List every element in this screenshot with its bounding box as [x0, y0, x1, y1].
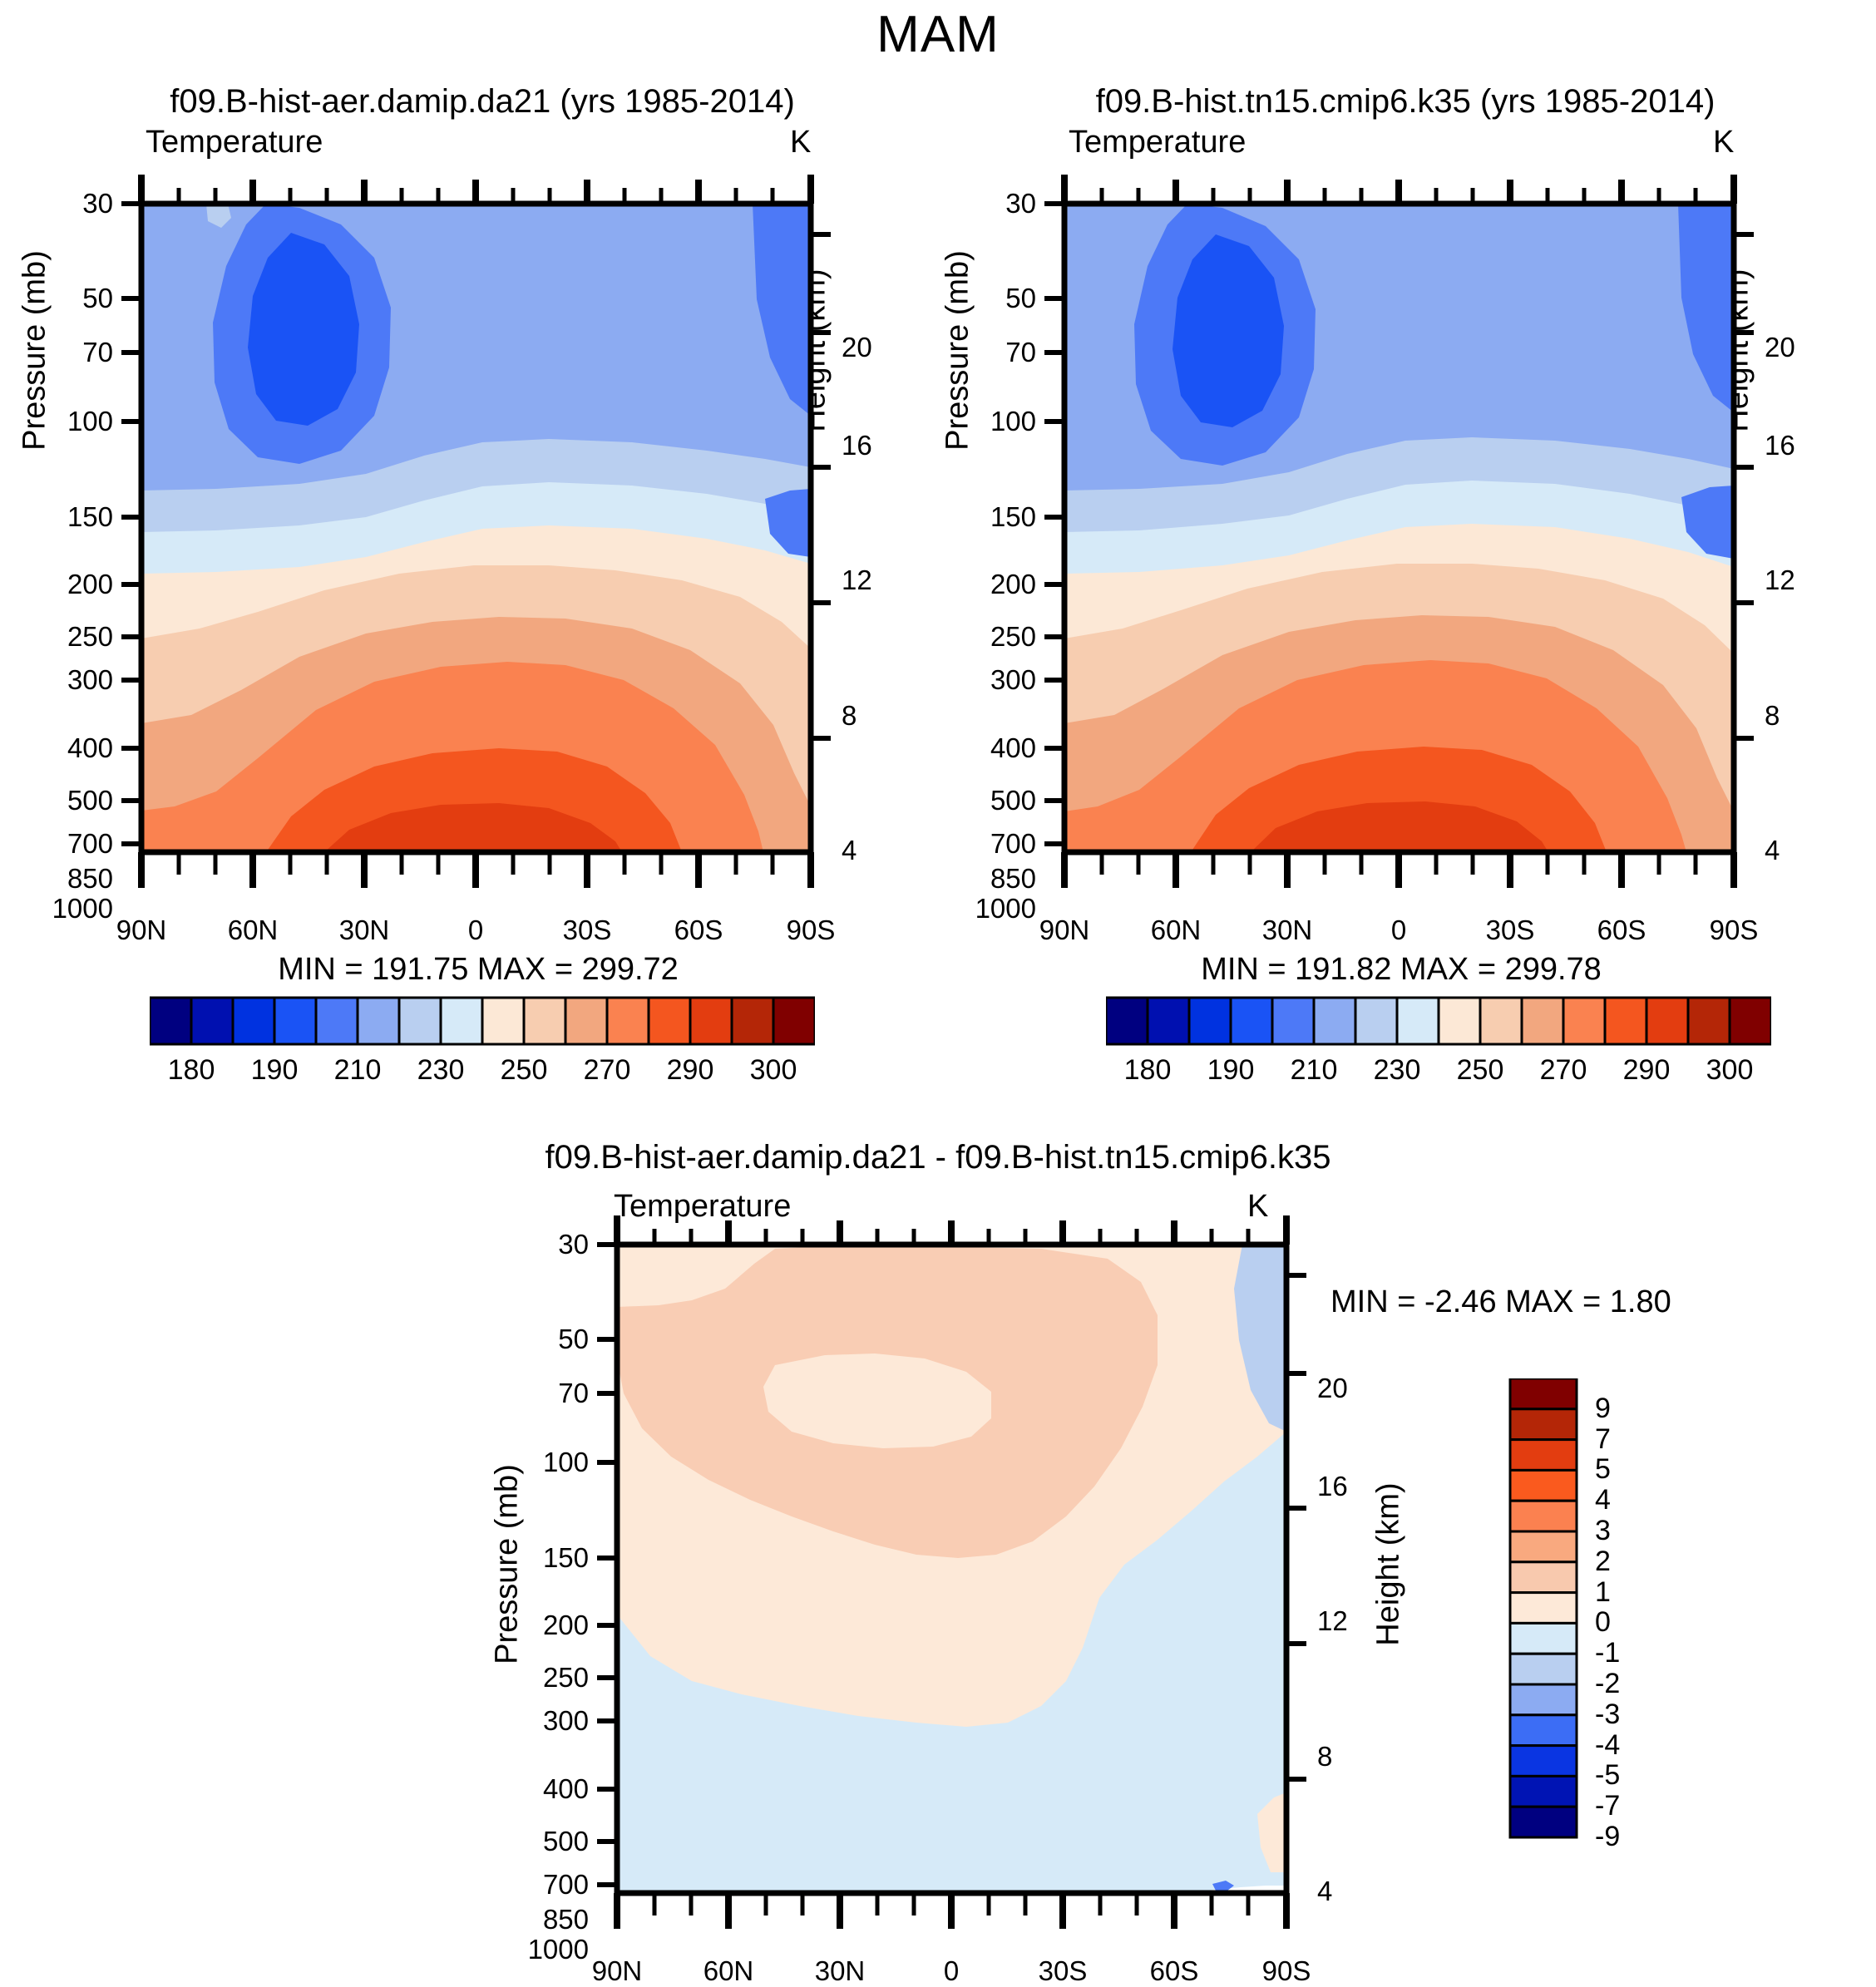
panel-right-ytick-400: 400 [953, 732, 1036, 764]
panel-left-colorbar-swatch [399, 998, 441, 1044]
panel-diff-colorbar-labels: 97543210-1-2-3-4-5-7-9 [1587, 1378, 1686, 1844]
panel-right-ytick-200: 200 [953, 569, 1036, 600]
panel-right-colorbar-tick-label: 290 [1605, 1054, 1688, 1087]
panel-right-ytick-300: 300 [953, 664, 1036, 696]
panel-right-colorbar-swatch [1189, 998, 1231, 1044]
panel-diff-y2tick-8: 8 [1317, 1741, 1332, 1773]
panel-right-colorbar-swatch [1355, 998, 1397, 1044]
panel-left-colorbar-tick-label: 250 [482, 1054, 565, 1087]
panel-left-title: f09.B-hist-aer.damip.da21 (yrs 1985-2014… [50, 83, 915, 121]
panel-diff-y2tick-4: 4 [1317, 1876, 1332, 1907]
panel-left-y2tick-8: 8 [842, 700, 857, 732]
panel-left-colorbar-swatch [274, 998, 316, 1044]
panel-left-colorbar-tick-label: 290 [649, 1054, 732, 1087]
panel-diff-colorbar-tick-label: -7 [1595, 1790, 1620, 1822]
panel-diff-colorbar-swatch [1510, 1807, 1577, 1837]
panel-left-colorbar-tick-label: 300 [732, 1054, 815, 1087]
panel-left-colorbar-tick-label: 210 [316, 1054, 399, 1087]
panel-right-y2tick-8: 8 [1765, 700, 1780, 732]
panel-diff-xtick-30N: 30N [790, 1955, 890, 1987]
panel-left-ytick-700: 700 [30, 828, 113, 860]
panel-left-colorbar-tick-label: 270 [565, 1054, 649, 1087]
panel-diff-y-ticks [597, 1245, 617, 1885]
panel-left-colorbar-swatch [773, 998, 815, 1044]
panel-right-ytick-850: 850 [953, 863, 1036, 895]
panel-left-ytick-200: 200 [30, 569, 113, 600]
panel-right-ytick-100: 100 [953, 406, 1036, 437]
panel-right-colorbar-swatch [1522, 998, 1563, 1044]
panel-left-colorbar-swatch [150, 998, 191, 1044]
panel-left-y2tick-16: 16 [842, 430, 872, 461]
panel-diff-colorbar-tick-label: 7 [1595, 1423, 1611, 1456]
panel-right-colorbar-swatch [1106, 998, 1148, 1044]
panel-diff-xtick-60S: 60S [1124, 1955, 1224, 1987]
panel-left-contours [141, 204, 811, 852]
panel-left-plot [50, 141, 931, 923]
panel-diff-colorbar-swatch [1510, 1654, 1577, 1684]
panel-left-y-ticks [121, 204, 141, 844]
panel-left-colorbar-swatch [690, 998, 732, 1044]
panel-diff-colorbar-tick-label: 1 [1595, 1576, 1611, 1609]
panel-right-colorbar-swatch [1563, 998, 1605, 1044]
panel-diff-colorbar-swatch [1510, 1531, 1577, 1562]
panel-right-xtick-30S: 30S [1460, 915, 1560, 946]
panel-left-colorbar-tick-label: 180 [150, 1054, 233, 1087]
panel-diff-colorbar-tick-label: 5 [1595, 1453, 1611, 1486]
panel-diff-ytick-300: 300 [506, 1705, 589, 1737]
panel-left-y2-ticks [811, 234, 831, 738]
panel-diff-ytick-200: 200 [506, 1610, 589, 1641]
panel-diff-colorbar-tick-label: -1 [1595, 1637, 1620, 1669]
panel-right-colorbar-tick-label: 190 [1189, 1054, 1272, 1087]
panel-diff-colorbar-swatch [1510, 1593, 1577, 1624]
panel-diff-colorbar-tick-label: -4 [1595, 1729, 1620, 1762]
panel-diff-ytick-400: 400 [506, 1773, 589, 1805]
panel-right-y2tick-12: 12 [1765, 565, 1795, 596]
panel-diff-colorbar-swatch [1510, 1501, 1577, 1531]
panel-right-xtick-60N: 60N [1126, 915, 1226, 946]
panel-right-y2tick-20: 20 [1765, 332, 1795, 363]
panel-right-ytick-70: 70 [970, 337, 1036, 368]
panel-left-colorbar-tick-label: 190 [233, 1054, 316, 1087]
panel-diff-y2-ticks [1286, 1275, 1306, 1779]
panel-diff-minmax: MIN = -2.46 MAX = 1.80 [1330, 1284, 1671, 1320]
panel-diff-xtick-30S: 30S [1013, 1955, 1113, 1987]
panel-right-colorbar [1106, 996, 1771, 1046]
panel-diff-colorbar-tick-label: 2 [1595, 1546, 1611, 1578]
panel-right-colorbar-swatch [1480, 998, 1522, 1044]
panel-diff-colorbar-swatch [1510, 1470, 1577, 1501]
panel-right-ytick-30: 30 [970, 188, 1036, 219]
panel-left-ytick-150: 150 [30, 501, 113, 533]
panel-right-colorbar-tick-label: 270 [1522, 1054, 1605, 1087]
panel-diff-ytick-150: 150 [506, 1542, 589, 1574]
panel-right-colorbar-labels: 180190210230250270290300 [1106, 1054, 1771, 1094]
panel-left-colorbar [150, 996, 815, 1046]
panel-diff-contours [617, 1245, 1286, 1893]
panel-diff-colorbar-swatch [1510, 1440, 1577, 1471]
panel-diff-y2tick-20: 20 [1317, 1373, 1348, 1404]
panel-right-ytick-50: 50 [970, 283, 1036, 314]
panel-left-colorbar-tick-label: 230 [399, 1054, 482, 1087]
panel-diff-ytick-700: 700 [506, 1869, 589, 1901]
panel-right-colorbar-swatch [1605, 998, 1646, 1044]
panel-right-y2-ticks [1734, 234, 1754, 738]
panel-left-ytick-250: 250 [30, 621, 113, 653]
panel-left-colorbar-swatch [191, 998, 233, 1044]
panel-diff-ytick-30: 30 [522, 1229, 589, 1260]
panel-diff-ytick-50: 50 [522, 1324, 589, 1355]
panel-diff-colorbar-tick-label: 4 [1595, 1484, 1611, 1516]
panel-left-colorbar-swatch [607, 998, 649, 1044]
panel-left-minmax: MIN = 191.75 MAX = 299.72 [141, 952, 815, 988]
panel-left-y2tick-12: 12 [842, 565, 872, 596]
panel-diff-plot [526, 1182, 1407, 1964]
panel-diff-ytick-70: 70 [522, 1378, 589, 1409]
panel-right-ytick-150: 150 [953, 501, 1036, 533]
panel-diff-title: f09.B-hist-aer.damip.da21 - f09.B-hist.t… [273, 1139, 1603, 1176]
panel-diff-colorbar-tick-label: -2 [1595, 1668, 1620, 1700]
panel-right-plot [973, 141, 1854, 923]
panel-diff-colorbar-swatch [1510, 1715, 1577, 1746]
panel-right-colorbar-swatch [1231, 998, 1272, 1044]
panel-right-colorbar-tick-label: 180 [1106, 1054, 1189, 1087]
panel-right-colorbar-tick-label: 230 [1355, 1054, 1439, 1087]
panel-left-ytick-50: 50 [47, 283, 113, 314]
panel-left-xtick-90N: 90N [91, 915, 191, 946]
panel-right-xtick-60S: 60S [1572, 915, 1671, 946]
panel-diff-xtick-90N: 90N [567, 1955, 667, 1987]
panel-right-colorbar-swatch [1439, 998, 1480, 1044]
panel-right-ytick-500: 500 [953, 785, 1036, 816]
panel-right-contours [1064, 204, 1734, 852]
panel-left-xtick-30S: 30S [537, 915, 637, 946]
panel-left-xtick-0: 0 [426, 915, 526, 946]
panel-right-ytick-700: 700 [953, 828, 1036, 860]
panel-left-xtick-90S: 90S [761, 915, 861, 946]
panel-left-ytick-500: 500 [30, 785, 113, 816]
panel-diff-colorbar-swatch [1510, 1776, 1577, 1807]
panel-right-xtick-30N: 30N [1237, 915, 1337, 946]
panel-right-xtick-90S: 90S [1684, 915, 1784, 946]
panel-left-xtick-60S: 60S [649, 915, 748, 946]
panel-left-colorbar-swatch [233, 998, 274, 1044]
panel-left-colorbar-swatch [358, 998, 399, 1044]
panel-left-ytick-300: 300 [30, 664, 113, 696]
panel-left-ytick-850: 850 [30, 863, 113, 895]
panel-left-x-ticks-top [141, 175, 811, 204]
panel-diff-colorbar-tick-label: -3 [1595, 1699, 1620, 1731]
panel-diff-ytick-850: 850 [506, 1904, 589, 1935]
panel-left-colorbar-swatch [441, 998, 482, 1044]
panel-left-colorbar-labels: 180190210230250270290300 [150, 1054, 815, 1094]
panel-left-xtick-30N: 30N [314, 915, 414, 946]
panel-right-colorbar-swatch [1688, 998, 1730, 1044]
panel-right-xtick-90N: 90N [1015, 915, 1114, 946]
panel-left-ytick-100: 100 [30, 406, 113, 437]
panel-diff-colorbar [1507, 1378, 1582, 1844]
panel-diff-colorbar-swatch [1510, 1562, 1577, 1593]
panel-diff-ytick-500: 500 [506, 1826, 589, 1857]
panel-right-ytick-250: 250 [953, 621, 1036, 653]
panel-left-ytick-400: 400 [30, 732, 113, 764]
panel-diff-y2tick-16: 16 [1317, 1471, 1348, 1502]
panel-diff-colorbar-tick-label: 9 [1595, 1393, 1611, 1425]
panel-left-colorbar-swatch [732, 998, 773, 1044]
panel-right-colorbar-swatch [1646, 998, 1688, 1044]
panel-left-colorbar-swatch [524, 998, 565, 1044]
panel-right-y-ticks [1044, 204, 1064, 844]
panel-right-xtick-0: 0 [1349, 915, 1449, 946]
panel-right-y2tick-4: 4 [1765, 835, 1780, 866]
panel-diff-colorbar-tick-label: -5 [1595, 1759, 1620, 1792]
panel-diff-x-ticks [617, 1893, 1286, 1929]
panel-left-ytick-70: 70 [47, 337, 113, 368]
panel-diff-ytick-250: 250 [506, 1662, 589, 1694]
panel-diff-xtick-0: 0 [901, 1955, 1001, 1987]
panel-diff-colorbar-tick-label: 3 [1595, 1515, 1611, 1547]
panel-right-minmax: MIN = 191.82 MAX = 299.78 [1064, 952, 1738, 988]
panel-right-colorbar-swatch [1272, 998, 1314, 1044]
panel-diff-x-ticks-top [617, 1215, 1286, 1245]
panel-right-colorbar-swatch [1148, 998, 1189, 1044]
panel-diff-xtick-90S: 90S [1237, 1955, 1336, 1987]
panel-right-y2tick-16: 16 [1765, 430, 1795, 461]
panel-right-x-ticks [1064, 852, 1734, 888]
panel-right-title: f09.B-hist.tn15.cmip6.k35 (yrs 1985-2014… [973, 83, 1838, 121]
panel-diff-colorbar-swatch [1510, 1684, 1577, 1715]
panel-left-xtick-60N: 60N [203, 915, 303, 946]
panel-diff-colorbar-swatch [1510, 1623, 1577, 1654]
panel-diff-xtick-60N: 60N [679, 1955, 778, 1987]
panel-right-colorbar-swatch [1397, 998, 1439, 1044]
panel-left-colorbar-swatch [565, 998, 607, 1044]
figure-title: MAM [0, 5, 1876, 64]
panel-right-colorbar-tick-label: 210 [1272, 1054, 1355, 1087]
panel-right-x-ticks-top [1064, 175, 1734, 204]
panel-diff-colorbar-tick-label: -9 [1595, 1821, 1620, 1853]
panel-left-ytick-30: 30 [47, 188, 113, 219]
panel-right-colorbar-tick-label: 250 [1439, 1054, 1522, 1087]
panel-left-colorbar-swatch [649, 998, 690, 1044]
panel-left-colorbar-swatch [316, 998, 358, 1044]
panel-diff-colorbar-swatch [1510, 1378, 1577, 1409]
panel-right-colorbar-tick-label: 300 [1688, 1054, 1771, 1087]
panel-diff-y2tick-12: 12 [1317, 1605, 1348, 1637]
panel-diff-colorbar-swatch [1510, 1746, 1577, 1777]
panel-diff-colorbar-tick-label: 0 [1595, 1606, 1611, 1639]
panel-diff-ytick-100: 100 [506, 1447, 589, 1478]
panel-left-x-ticks [141, 852, 811, 888]
panel-left-y2tick-4: 4 [842, 835, 857, 866]
panel-left-colorbar-swatch [482, 998, 524, 1044]
panel-right-colorbar-swatch [1314, 998, 1355, 1044]
panel-diff-colorbar-swatch [1510, 1409, 1577, 1440]
panel-right-colorbar-swatch [1730, 998, 1771, 1044]
